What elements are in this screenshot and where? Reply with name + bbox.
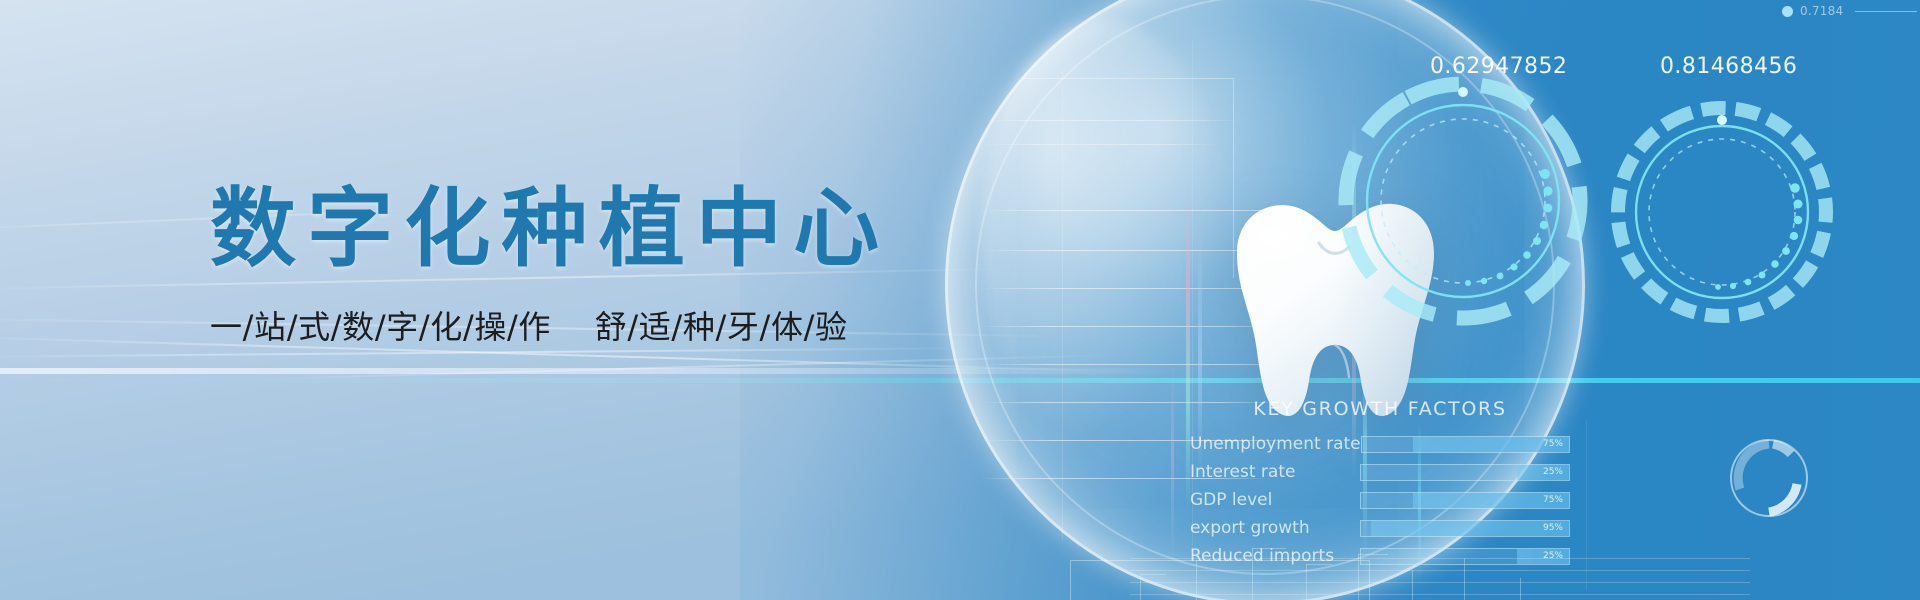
factor-row: Unemployment rate 75% — [1190, 432, 1570, 456]
factor-bar-track: 95% — [1360, 520, 1570, 537]
subtitle-segment-2: 舒/适/种/牙/体/验 — [595, 308, 848, 346]
hud-ring-right — [1606, 96, 1838, 328]
page-title: 数字化种植中心 — [210, 186, 970, 272]
factor-label: Unemployment rate — [1190, 436, 1361, 453]
factor-bar-fill: 25% — [1517, 465, 1569, 480]
factor-bar-track: 75% — [1360, 492, 1570, 509]
key-growth-factors-panel: KEY GROWTH FACTORS Unemployment rate 75%… — [1190, 398, 1570, 572]
factor-bar-fill: 25% — [1517, 549, 1569, 564]
panel-title: KEY GROWTH FACTORS — [1190, 398, 1570, 420]
hud-value-top: 0.7184 — [1800, 4, 1843, 18]
hud-value-right: 0.81468456 — [1660, 54, 1797, 79]
factor-label: GDP level — [1190, 492, 1360, 509]
hero-banner: 0.62947852 0.81468456 0.7184 KEY GROWTH … — [0, 0, 1920, 600]
factor-bar-track: 25% — [1360, 464, 1570, 481]
factor-percent: 75% — [1543, 495, 1563, 505]
factor-bar-track: 25% — [1360, 548, 1570, 565]
factor-percent: 25% — [1543, 467, 1563, 477]
factor-label: Reduced imports — [1190, 548, 1360, 565]
factor-row: Interest rate 25% — [1190, 460, 1570, 484]
factor-percent: 95% — [1543, 523, 1563, 533]
factor-bar-fill: 75% — [1413, 493, 1569, 508]
page-subtitle: 一/站/式/数/字/化/操/作 舒/适/种/牙/体/验 — [210, 310, 970, 345]
factor-label: Interest rate — [1190, 464, 1360, 481]
factor-row: export growth 95% — [1190, 516, 1570, 540]
hud-value-left: 0.62947852 — [1430, 54, 1567, 79]
factor-percent: 25% — [1543, 551, 1563, 561]
factor-percent: 75% — [1543, 439, 1563, 449]
factor-bar-fill: 95% — [1371, 521, 1569, 536]
factor-bar-fill: 75% — [1413, 437, 1569, 452]
hud-ring-left — [1332, 70, 1594, 332]
factor-row: GDP level 75% — [1190, 488, 1570, 512]
hud-top-line — [1855, 11, 1917, 12]
factor-row: Reduced imports 25% — [1190, 544, 1570, 568]
hud-ring-small — [1723, 432, 1815, 524]
factor-label: export growth — [1190, 520, 1360, 537]
headline-block: 数字化种植中心 一/站/式/数/字/化/操/作 舒/适/种/牙/体/验 — [210, 186, 970, 345]
subtitle-segment-1: 一/站/式/数/字/化/操/作 — [210, 308, 551, 346]
factor-bar-track: 75% — [1361, 436, 1570, 453]
vertical-guide-line — [1586, 420, 1587, 590]
hud-dot-marker — [1782, 6, 1793, 17]
